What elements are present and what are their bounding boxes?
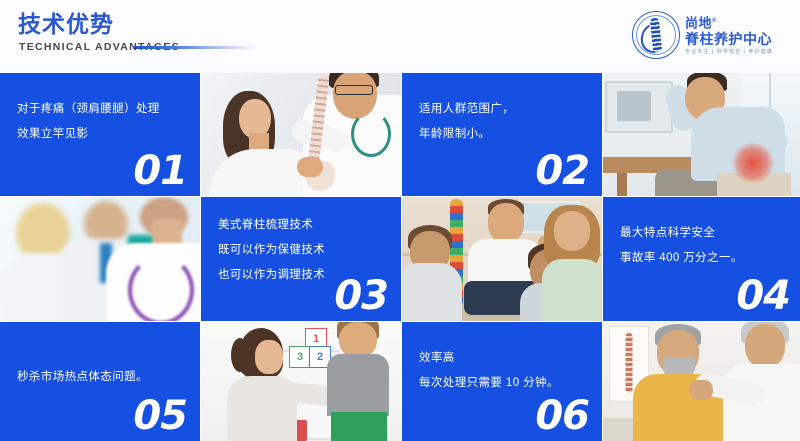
photo-illustration	[201, 73, 401, 196]
photo-girl-head	[554, 211, 590, 251]
advantage-line: 秒杀市场热点体态问题。	[17, 365, 188, 390]
photo-mother-face	[255, 340, 283, 374]
slide-header: 技术优势 TECHNICAL ADVANTAGES 尚地® 脊柱养护中心 专业专…	[0, 0, 800, 73]
photo-desk-leg	[617, 173, 627, 196]
advantage-line: 最大特点科学安全	[620, 221, 791, 246]
brand-name-secondary: 脊柱养护中心	[685, 31, 773, 47]
photo-boy-head	[339, 322, 377, 358]
advantage-number-01: 01	[133, 148, 187, 194]
header-gradient-rule	[133, 46, 258, 49]
brand-name-primary: 尚地®	[685, 14, 773, 30]
brand-wordmark: 尚地® 脊柱养护中心 专业专注 | 科学安全 | 养护健康	[685, 14, 773, 55]
photo-therapist-hand	[689, 380, 713, 400]
brand-tagline: 专业专注 | 科学安全 | 养护健康	[685, 48, 773, 56]
advantage-copy-02: 适用人群范围广， 年龄限制小。	[419, 97, 590, 147]
advantages-grid: 对于疼痛（颈肩腰腿）处理 效果立竿见影 01	[0, 73, 800, 439]
photo-instructor-head	[488, 203, 524, 243]
advantage-line: 年龄限制小。	[419, 122, 590, 147]
photo-boy-shirt	[327, 354, 389, 416]
photo-chart-spine	[626, 333, 633, 393]
advantage-copy-01: 对于疼痛（颈肩腰腿）处理 效果立竿见影	[17, 97, 188, 147]
advantage-card-04[interactable]: 最大特点科学安全 事故率 400 万分之一。 04	[603, 197, 800, 321]
photo-doctor-glasses	[335, 85, 373, 95]
advantage-card-06[interactable]: 效率高 每次处理只需要 10 分钟。 06	[402, 322, 602, 441]
spine-circle-emblem-icon	[632, 11, 680, 59]
photo-illustration	[0, 197, 200, 321]
advantage-line: 既可以作为保健技术	[218, 238, 389, 263]
page-title: 技术优势	[18, 10, 114, 38]
advantage-number-06: 06	[535, 393, 589, 439]
brand-name-text: 尚地	[685, 16, 712, 31]
advantage-photo-back-pain	[603, 73, 800, 196]
advantage-photo-medical-team	[0, 197, 200, 321]
advantage-number-04: 04	[736, 273, 790, 319]
photo-hand	[297, 157, 323, 177]
advantage-copy-05: 秒杀市场热点体态问题。	[17, 365, 188, 390]
advantage-card-05[interactable]: 秒杀市场热点体态问题。 05	[0, 322, 200, 441]
photo-monitor	[605, 81, 673, 133]
advantage-photo-children-class	[402, 197, 602, 321]
advantage-copy-06: 效率高 每次处理只需要 10 分钟。	[419, 346, 590, 396]
photo-illustration	[603, 73, 800, 196]
advantage-line: 效率高	[419, 346, 590, 371]
photo-stethoscope	[128, 255, 194, 321]
photo-girl-body	[542, 259, 602, 321]
advantage-number-05: 05	[133, 393, 187, 439]
photo-toy-block	[289, 346, 311, 368]
brand-logo: 尚地® 脊柱养护中心 专业专注 | 科学安全 | 养护健康	[632, 9, 792, 61]
advantage-number-03: 03	[334, 273, 388, 319]
photo-pain-highlight	[731, 143, 775, 183]
photo-illustration	[402, 197, 602, 321]
advantage-photo-shoulder-therapy	[603, 322, 800, 441]
registered-mark: ®	[712, 18, 717, 24]
advantage-line: 对于疼痛（颈肩腰腿）处理	[17, 97, 188, 122]
advantage-line: 事故率 400 万分之一。	[620, 246, 791, 271]
advantage-number-02: 02	[535, 148, 589, 194]
advantage-photo-posture-check	[201, 322, 401, 441]
advantage-line: 适用人群范围广，	[419, 97, 590, 122]
photo-therapist-body	[723, 364, 800, 441]
photo-illustration	[603, 322, 800, 441]
slide-technical-advantages: 技术优势 TECHNICAL ADVANTAGES 尚地® 脊柱养护中心 专业专…	[0, 0, 800, 439]
photo-stethoscope	[351, 111, 391, 157]
photo-illustration	[201, 322, 401, 441]
advantage-line: 美式脊柱梳理技术	[218, 213, 389, 238]
advantage-line: 效果立竿见影	[17, 122, 188, 147]
photo-therapist-head	[745, 324, 785, 368]
advantage-card-01[interactable]: 对于疼痛（颈肩腰腿）处理 效果立竿见影 01	[0, 73, 200, 196]
advantage-photo-doctor-spine-model	[201, 73, 401, 196]
photo-child-body	[402, 263, 462, 321]
advantage-copy-04: 最大特点科学安全 事故率 400 万分之一。	[620, 221, 791, 271]
advantage-card-03[interactable]: 美式脊柱梳理技术 既可以作为保健技术 也可以作为调理技术 03	[201, 197, 401, 321]
photo-boy-pants	[331, 412, 387, 441]
advantage-card-02[interactable]: 适用人群范围广， 年龄限制小。 02	[402, 73, 602, 196]
